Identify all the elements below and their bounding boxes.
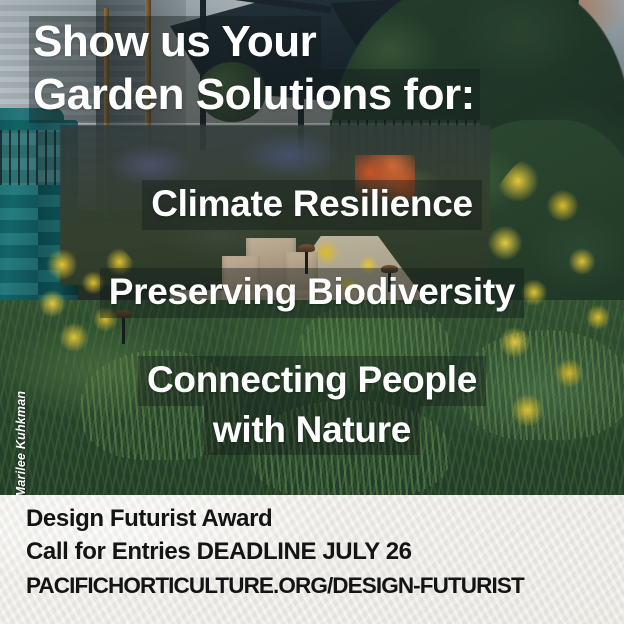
theme-label-biodiversity: Preserving Biodiversity (100, 268, 524, 318)
headline-block: Show us Your Garden Solutions for: (29, 16, 595, 123)
award-title: Design Futurist Award (26, 504, 524, 533)
garden-photo: Show us Your Garden Solutions for: Clima… (0, 0, 624, 495)
theme-block-people: Connecting People with Nature (0, 356, 624, 455)
footer-text-block: Design Futurist Award Call for Entries D… (26, 504, 524, 599)
entry-url[interactable]: PACIFICHORTICULTURE.ORG/DESIGN-FUTURIST (26, 572, 524, 599)
footer-bar: Design Futurist Award Call for Entries D… (0, 495, 624, 624)
theme-label-people: Connecting People (138, 356, 486, 406)
photo-credit: Marilee Kuhkman (14, 374, 28, 495)
theme-block-biodiversity: Preserving Biodiversity (0, 268, 624, 318)
poster: Show us Your Garden Solutions for: Clima… (0, 0, 624, 624)
headline-line-1: Show us Your (29, 16, 321, 69)
headline-line-2: Garden Solutions for: (29, 69, 480, 122)
theme-label-climate: Climate Resilience (142, 180, 482, 230)
theme-block-climate: Climate Resilience (0, 180, 624, 230)
theme-label-nature: with Nature (204, 406, 420, 456)
deadline-line: Call for Entries DEADLINE JULY 26 (26, 537, 524, 566)
